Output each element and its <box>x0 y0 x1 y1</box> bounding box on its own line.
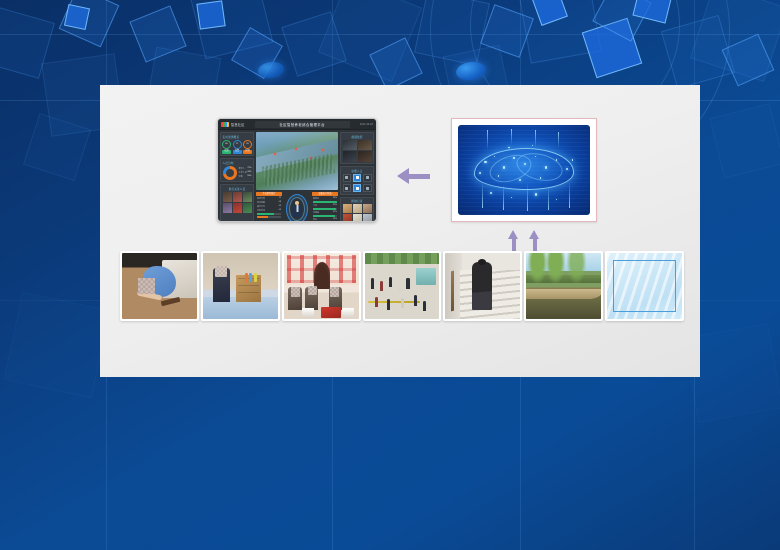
legend-name: 工作人员 <box>239 171 247 174</box>
dashboard-right-column: 视频监控 功能入口 <box>340 132 374 222</box>
pedestrian <box>380 281 383 292</box>
snapshot-records-card: 抓拍记录 <box>340 197 374 222</box>
function-icon-2[interactable] <box>353 174 362 183</box>
watchlist-label: 重点关注人员 <box>223 187 252 191</box>
device-row: 传感器 91% <box>312 211 338 214</box>
face-mosaic <box>330 287 339 296</box>
event-meter <box>257 216 281 218</box>
neural-node <box>556 199 557 200</box>
pedestrian <box>401 298 404 309</box>
brain-outline-icon <box>474 148 574 189</box>
glass-fence <box>416 268 437 285</box>
device-meter <box>313 208 337 210</box>
face-mosaic <box>308 286 317 295</box>
event-value: 12 <box>279 197 281 200</box>
scene-photo-2[interactable] <box>201 251 280 321</box>
bg-square <box>23 113 91 181</box>
map-marker-icon <box>322 149 324 151</box>
device-row: 摄像机 98% <box>312 197 338 200</box>
bg-square <box>64 4 90 30</box>
dashboard-date: 2021-06-18 <box>360 123 373 126</box>
data-ray <box>527 183 528 212</box>
face-mosaic <box>215 266 227 277</box>
donut-legend: 老年人 72% 工作人员 18% 访客 10% <box>239 167 252 178</box>
camera-feed[interactable] <box>343 151 357 162</box>
scene-photo-1[interactable] <box>120 251 199 321</box>
device-name: 门禁 <box>313 204 317 207</box>
bg-square <box>592 0 652 42</box>
legend-value: 10% <box>247 175 251 178</box>
donut-label: 人员分布 <box>223 161 252 165</box>
event-statistics-panel: 今日事件统计 跌倒告警 12 离床提醒 08 超时未归 0 <box>256 192 282 222</box>
neural-node <box>535 193 537 195</box>
event-value: 05 <box>279 209 281 212</box>
event-name: 求助呼叫 <box>257 209 265 212</box>
bg-square <box>582 18 642 78</box>
gauge-ring: 05 <box>243 140 252 149</box>
device-value: 98% <box>333 197 337 200</box>
event-row: 超时未归 03 <box>256 205 282 208</box>
bg-square <box>532 0 568 26</box>
willow-tree <box>528 253 547 283</box>
pedestrian <box>387 299 390 310</box>
scene-photo-6[interactable] <box>524 251 603 321</box>
dashboard-body: 实时监测概览 86 在线 12 告警 05 <box>218 130 376 222</box>
bg-square <box>189 0 274 59</box>
pedestrian <box>406 278 409 289</box>
white-bowl <box>302 308 314 317</box>
bg-square <box>518 0 601 64</box>
watchlist-card: 重点关注人员 <box>220 184 254 222</box>
camera-grid <box>343 140 372 162</box>
focus-person-ring <box>286 194 308 222</box>
donut-row: 老年人 72% 工作人员 18% 访客 10% <box>223 166 252 180</box>
event-row: 求助呼叫 05 <box>256 209 282 212</box>
snapshot-thumbnail[interactable] <box>343 214 352 222</box>
pedestrian <box>398 282 401 293</box>
willow-tree <box>546 253 565 283</box>
pedestrian <box>423 301 426 312</box>
wooden-plank <box>161 297 181 306</box>
data-ray <box>548 186 549 209</box>
face-mosaic <box>138 278 154 294</box>
function-icon-grid <box>343 174 372 193</box>
status-overview-card: 实时监测概览 86 在线 12 告警 05 <box>220 132 254 156</box>
pedestrian <box>389 277 392 288</box>
avatar-body <box>293 205 302 217</box>
neural-node <box>572 159 573 160</box>
gauge-abnormal: 05 异常 <box>243 140 252 154</box>
neural-node <box>503 166 505 168</box>
neural-node <box>556 159 557 160</box>
map-marker-icon <box>295 148 297 150</box>
scene-photo-1-image <box>122 253 197 319</box>
neural-node <box>494 156 495 157</box>
bottle <box>249 273 252 282</box>
event-row: 离床提醒 08 <box>256 201 282 204</box>
data-flow-arrow-left <box>397 168 431 184</box>
neural-node <box>508 147 509 148</box>
event-name: 离床提醒 <box>257 201 265 204</box>
neural-node <box>484 161 486 163</box>
scene-photo-3[interactable] <box>282 251 361 321</box>
event-name: 跌倒告警 <box>257 197 265 200</box>
river-water <box>526 299 601 319</box>
device-row: 门禁 95% <box>312 204 338 207</box>
pedestrian <box>414 295 417 306</box>
watchlist-thumbnail[interactable] <box>233 203 242 213</box>
scene-photo-4[interactable] <box>363 251 442 321</box>
face-mosaic <box>291 287 300 296</box>
white-content-panel: 智慧社区 社区智慧养老综合管理平台 2021-06-18 实时监测概览 86 在… <box>100 85 700 377</box>
watchlist-thumbnail-grid <box>223 192 252 213</box>
device-name: 传感器 <box>313 211 319 214</box>
legend-name: 老年人 <box>239 167 245 170</box>
dashboard-center-column: 今日事件统计 跌倒告警 12 离床提醒 08 超时未归 0 <box>256 132 338 222</box>
bg-ellipse <box>455 60 487 82</box>
neural-node <box>540 177 541 178</box>
camera-feed[interactable] <box>358 140 372 151</box>
pedestrian <box>371 278 374 289</box>
ai-brain-frame[interactable] <box>451 118 597 222</box>
bg-square <box>4 292 111 399</box>
video-surveillance-label: 视频监控 <box>343 135 372 139</box>
function-icon-5[interactable] <box>353 184 362 193</box>
event-value: 03 <box>279 205 281 208</box>
handrail <box>451 271 454 311</box>
legend-item: 老年人 72% <box>239 167 252 170</box>
device-row: 网关 99% <box>312 218 338 221</box>
bg-square <box>661 15 735 89</box>
gauge-ring: 12 <box>233 140 242 149</box>
willow-tree <box>567 253 586 283</box>
device-status-panel: 设备运行状态 摄像机 98% 门禁 95% <box>312 192 338 222</box>
data-flow-arrow-up-2 <box>529 230 540 252</box>
bg-hline <box>0 34 780 35</box>
bg-square <box>0 7 55 79</box>
dashboard-header: 智慧社区 社区智慧养老综合管理平台 2021-06-18 <box>218 119 376 130</box>
function-entry-card: 功能入口 <box>340 166 374 195</box>
scene-photo-4-image <box>365 253 440 319</box>
event-row: 跌倒告警 12 <box>256 197 282 200</box>
scene-photo-7-image <box>607 253 682 319</box>
map-marker-icon <box>274 153 276 155</box>
platform-logo-icon <box>221 122 229 127</box>
device-meter <box>313 201 337 203</box>
scene-photo-7[interactable] <box>605 251 684 321</box>
doorway-arch <box>314 262 330 288</box>
watchlist-thumbnail[interactable] <box>223 192 232 202</box>
function-icon-1[interactable] <box>343 174 352 183</box>
device-value: 95% <box>333 204 337 207</box>
neural-node <box>498 175 499 176</box>
camera-feed[interactable] <box>343 140 357 151</box>
donut-chart <box>223 166 237 180</box>
watchlist-thumbnail[interactable] <box>223 203 232 213</box>
snapshot-thumbnail[interactable] <box>353 204 362 213</box>
dashboard-title: 社区智慧养老综合管理平台 <box>255 121 350 128</box>
arrow-shaft <box>408 174 430 179</box>
snapshot-records-label: 抓拍记录 <box>343 199 372 203</box>
function-icon-4[interactable] <box>343 184 352 193</box>
event-meter <box>257 213 281 215</box>
watchlist-thumbnail[interactable] <box>243 192 252 202</box>
bg-square <box>281 11 347 77</box>
tree-line <box>365 253 440 264</box>
neural-node <box>511 197 512 198</box>
data-ray <box>482 181 483 208</box>
scene-photo-2-image <box>203 253 278 319</box>
data-ray <box>503 184 504 209</box>
legend-value: 72% <box>247 167 251 170</box>
community-3d-map[interactable] <box>256 132 338 190</box>
man-climbing-stairs <box>472 262 491 310</box>
red-gift-box <box>321 307 340 318</box>
white-bowl <box>342 308 354 317</box>
neural-node <box>513 157 514 158</box>
slide-stage: 智慧社区 社区智慧养老综合管理平台 2021-06-18 实时监测概览 86 在… <box>0 0 780 550</box>
legend-item: 访客 10% <box>239 175 252 178</box>
snapshot-thumbnail[interactable] <box>363 204 372 213</box>
platform-logo-text: 智慧社区 <box>231 122 245 127</box>
video-surveillance-card: 视频监控 <box>340 132 374 164</box>
population-distribution-card: 人员分布 老年人 72% 工作人员 18% <box>220 158 254 182</box>
data-ray <box>535 130 536 148</box>
gauge-label: 在线 <box>222 150 231 154</box>
gauge-group: 86 在线 12 告警 05 异常 <box>223 140 252 154</box>
dashboard-screenshot[interactable]: 智慧社区 社区智慧养老综合管理平台 2021-06-18 实时监测概览 86 在… <box>217 118 377 222</box>
device-name: 摄像机 <box>313 197 319 200</box>
bg-square <box>318 0 422 82</box>
focus-person-avatar <box>293 201 302 217</box>
gauge-alarm: 12 告警 <box>233 140 242 154</box>
ai-brain-image <box>458 125 590 215</box>
bg-square <box>632 0 673 24</box>
neural-node <box>535 156 536 157</box>
bg-square <box>709 103 780 178</box>
event-name: 超时未归 <box>257 205 265 208</box>
event-value: 08 <box>279 201 281 204</box>
dashboard-left-column: 实时监测概览 86 在线 12 告警 05 <box>220 132 254 222</box>
arrow-head-icon <box>397 168 409 184</box>
bg-square <box>129 5 186 62</box>
scene-sample-photo-strip <box>120 251 684 321</box>
bg-square <box>196 0 225 29</box>
device-value: 99% <box>333 218 337 221</box>
bg-square <box>231 27 283 79</box>
function-icon-3[interactable] <box>363 174 372 183</box>
snapshot-thumbnail[interactable] <box>353 214 362 222</box>
snapshot-thumbnail[interactable] <box>343 204 352 213</box>
bg-square <box>369 37 422 90</box>
function-icon-6[interactable] <box>363 184 372 193</box>
bg-square <box>414 0 490 66</box>
dashboard-center-lower: 今日事件统计 跌倒告警 12 离床提醒 08 超时未归 0 <box>256 192 338 222</box>
data-ray <box>511 129 512 145</box>
data-flow-arrow-up-1 <box>508 230 519 252</box>
device-status-header: 设备运行状态 <box>312 192 338 196</box>
scene-photo-6-image <box>526 253 601 319</box>
device-name: 网关 <box>313 218 317 221</box>
camera-feed[interactable] <box>358 151 372 162</box>
data-ray <box>569 181 570 208</box>
focus-person-panel <box>284 192 310 222</box>
device-value: 91% <box>333 211 337 214</box>
map-marker-icon <box>310 157 312 159</box>
data-ray <box>487 130 488 150</box>
gauge-ring: 86 <box>222 140 231 149</box>
legend-name: 访客 <box>239 175 243 178</box>
status-overview-label: 实时监测概览 <box>223 135 252 139</box>
device-meter <box>313 215 337 217</box>
snapshot-grid <box>343 204 372 222</box>
scene-photo-5[interactable] <box>443 251 522 321</box>
gauge-online: 86 在线 <box>222 140 231 154</box>
event-statistics-header: 今日事件统计 <box>256 192 282 196</box>
bg-square <box>59 0 120 47</box>
legend-item: 工作人员 18% <box>239 171 252 174</box>
snapshot-thumbnail[interactable] <box>363 214 372 222</box>
gauge-label: 异常 <box>243 150 252 154</box>
arrow-shaft <box>533 237 537 252</box>
bottle <box>254 273 257 282</box>
scene-photo-5-image <box>445 253 520 319</box>
pedestrian <box>375 297 378 308</box>
bg-square <box>722 34 775 87</box>
legend-value: 18% <box>247 171 251 174</box>
data-ray <box>558 132 559 148</box>
scene-photo-3-image <box>284 253 359 319</box>
gauge-label: 告警 <box>233 150 242 154</box>
watchlist-thumbnail[interactable] <box>233 192 242 202</box>
neural-node <box>532 145 533 146</box>
neural-node <box>490 192 492 194</box>
blue-border-frame <box>613 260 676 313</box>
watchlist-thumbnail[interactable] <box>243 203 252 213</box>
arrow-shaft <box>512 237 516 252</box>
bg-square <box>690 0 780 82</box>
bg-ellipse <box>257 60 285 79</box>
bottle <box>245 273 248 282</box>
function-entry-label: 功能入口 <box>343 169 372 173</box>
bg-square <box>480 4 534 58</box>
